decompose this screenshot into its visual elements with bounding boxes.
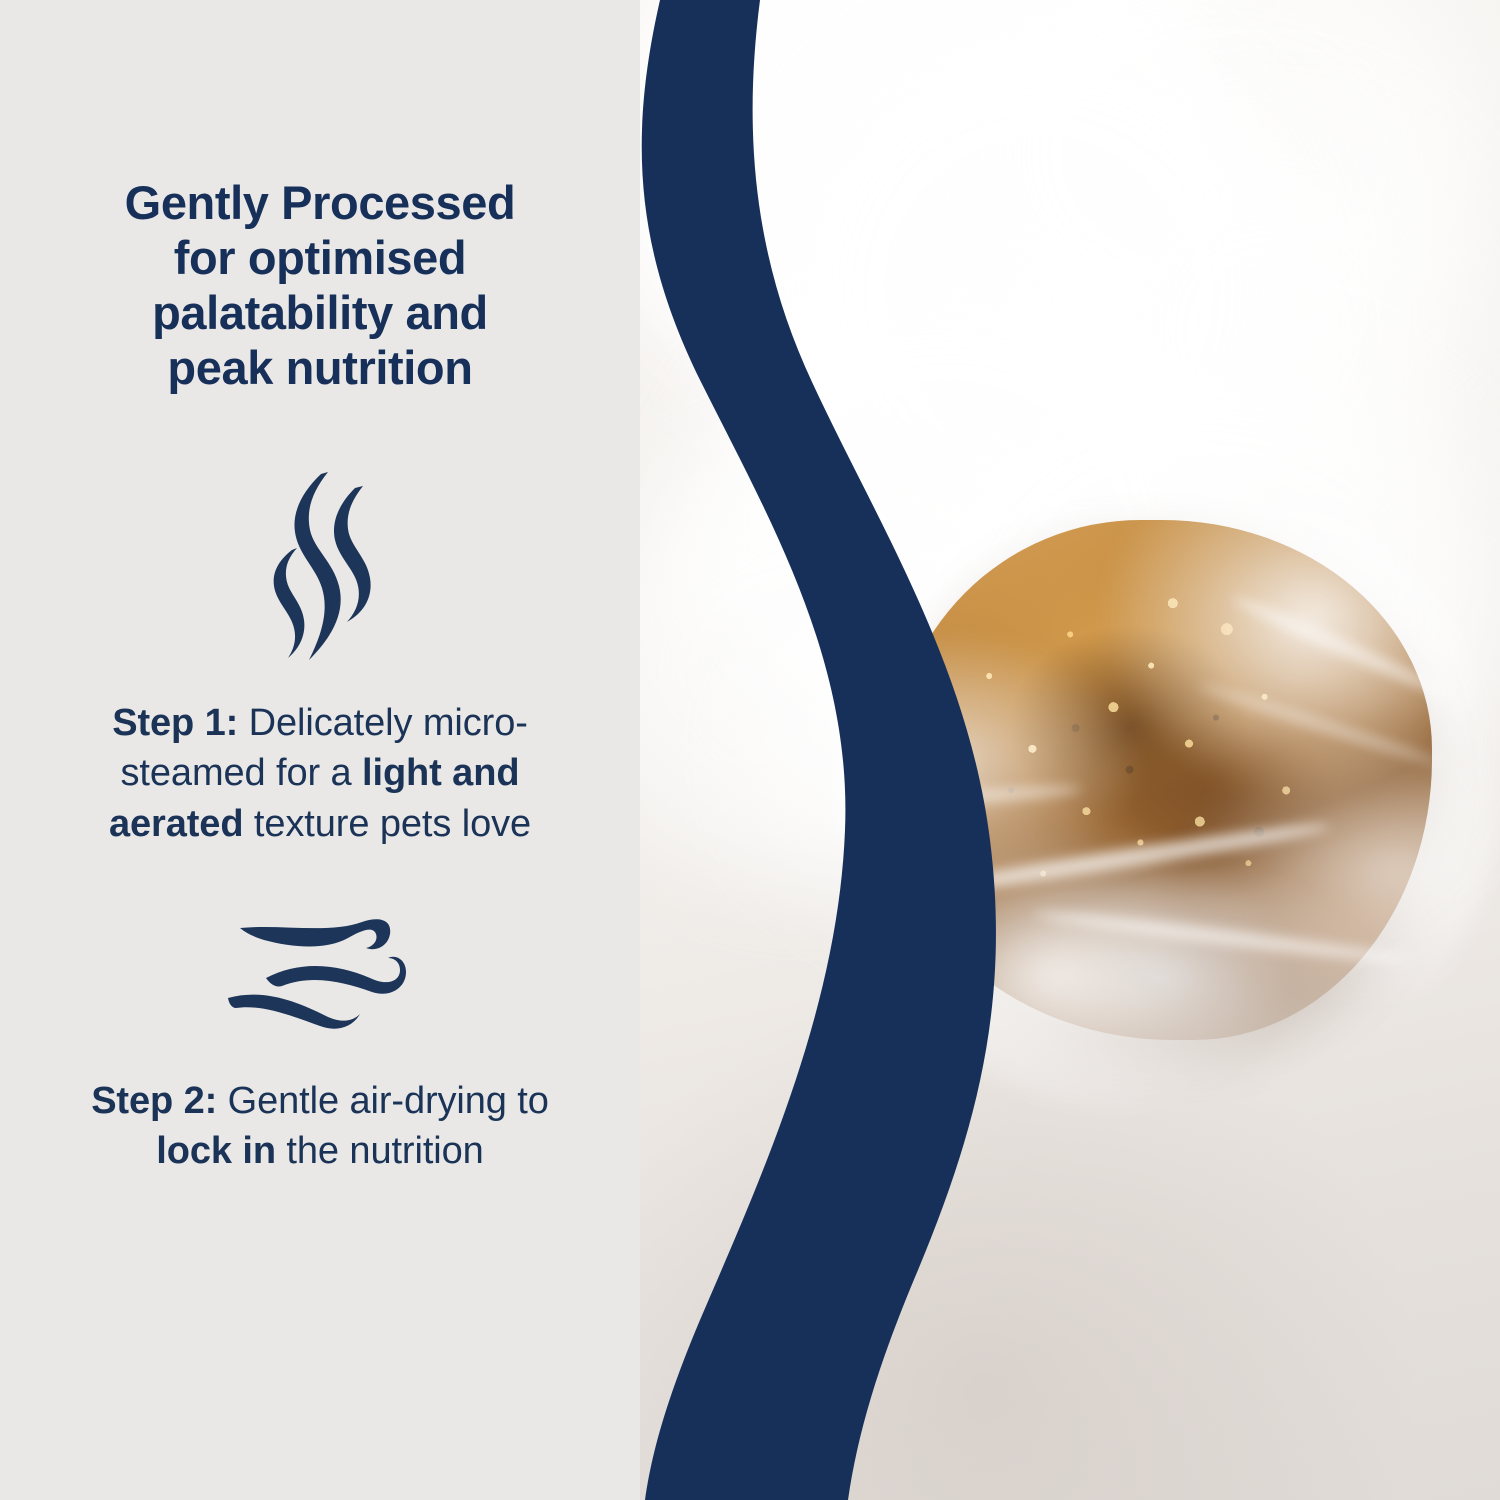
left-content-column: Gently Processed for optimised palatabil… (0, 0, 640, 1500)
steam-icon (259, 472, 381, 662)
step-1-label: Step 1: (112, 702, 238, 744)
step-2-body-part1: Gentle air-drying to (217, 1080, 549, 1122)
photo-vignette (640, 930, 1500, 1500)
step-2-emphasis: lock in (156, 1130, 276, 1172)
wind-icon (220, 916, 420, 1034)
infographic-stage: Gently Processed for optimised palatabil… (0, 0, 1500, 1500)
headline-line-2: for optimised (174, 231, 466, 284)
page-title: Gently Processed for optimised palatabil… (60, 176, 580, 396)
headline-line-1: Gently Processed (125, 176, 516, 229)
step-1-body-part2: texture pets love (243, 803, 531, 845)
headline-line-4: peak nutrition (167, 341, 472, 394)
step-1-text: Step 1: Delicately micro-steamed for a l… (80, 698, 560, 850)
step-2-label: Step 2: (91, 1080, 217, 1122)
product-photo-panel (640, 0, 1500, 1500)
headline-line-3: palatability and (152, 286, 488, 339)
step-2-body-part2: the nutrition (276, 1130, 484, 1172)
step-2-text: Step 2: Gentle air-drying to lock in the… (80, 1076, 560, 1177)
